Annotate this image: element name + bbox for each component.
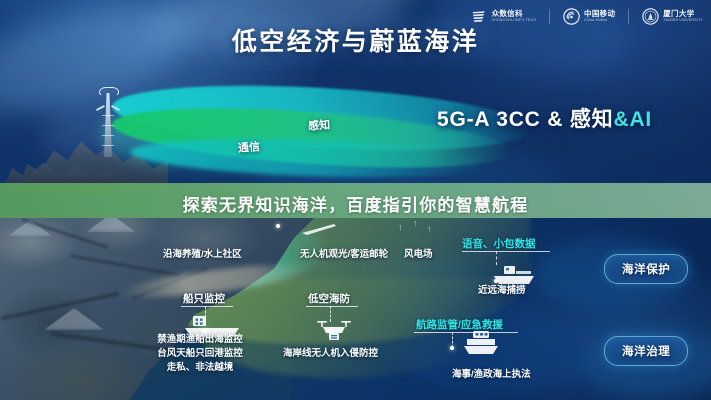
tech-tagline-accent: &AI <box>613 108 652 131</box>
zhongshu-mark-icon <box>471 9 488 25</box>
label-maritime-enforcement: 海事/渔政海上执法 <box>452 366 531 380</box>
wind-turbine-icon: ↑ <box>398 222 403 232</box>
leader-line <box>496 251 498 265</box>
label-coastline-uav-defense: 海岸线无人机入侵防控 <box>283 345 378 359</box>
logo-xiamen-university-en: XIAMEN UNIVERSITY <box>663 19 703 23</box>
tech-tagline: 5G-A 3CC & 感知&AI <box>437 103 652 133</box>
note-line-3: 走私、非法越境 <box>124 361 276 375</box>
label-drone-tour-cruise: 无人机观光/客运邮轮 <box>300 246 388 260</box>
aircraft-icon <box>300 222 340 236</box>
map-node-dot <box>328 329 332 333</box>
logo-china-mobile-zh: 中国移动 <box>584 10 615 18</box>
promo-banner: 探索无界知识海洋，百度指引你的智慧航程 <box>0 183 711 223</box>
logo-zhongshu-zh: 众数信科 <box>492 10 536 18</box>
label-offshore-fishing: 近远海捕捞 <box>478 282 526 296</box>
beam-label-sensing: 感知 <box>308 116 331 133</box>
label-low-altitude-defense: 低空海防 <box>308 291 350 306</box>
slide-canvas: 低空经济与蔚蓝海洋 5G-A 3CC & 感知&AI 通信 感知 众数信科 <box>0 0 711 400</box>
map-node-dot <box>450 346 454 350</box>
ship-monitoring-notes: 禁渔期渔船出海监控 台风天船只回港监控 走私、非法越境 <box>124 333 276 374</box>
logo-xiamen-university-zh: 厦门大学 <box>663 10 703 18</box>
label-underline <box>462 251 550 252</box>
logo-divider <box>628 9 629 24</box>
wind-turbine-icon: ↑ <box>427 224 432 234</box>
promo-banner-text: 探索无界知识海洋，百度指引你的智慧航程 <box>183 191 529 216</box>
label-wind-farm: 风电场 <box>404 246 433 260</box>
map-node-dot <box>276 224 280 228</box>
pill-ocean-protection[interactable]: 海洋保护 <box>604 254 688 284</box>
xiamen-university-seal-icon <box>642 8 659 25</box>
note-line-1: 禁渔期渔船出海监控 <box>124 333 276 347</box>
logo-divider <box>549 9 550 24</box>
logo-china-mobile-en: China Mobile <box>584 19 615 23</box>
logo-zhongshu: 众数信科 ZHONGSHU INFO TECH <box>471 9 536 25</box>
base-station-tower-icon <box>95 85 121 157</box>
partner-logo-strip: 众数信科 ZHONGSHU INFO TECH 中国移动 China Mobil… <box>471 8 703 25</box>
note-line-2: 台风天船只回港监控 <box>124 347 276 361</box>
logo-zhongshu-en: ZHONGSHU INFO TECH <box>492 19 536 23</box>
label-underline <box>181 306 233 307</box>
label-voice-small-packet: 语音、小包数据 <box>462 236 536 251</box>
label-coastal-aquaculture: 沿海养殖/水上社区 <box>163 246 242 260</box>
slide-title: 低空经济与蔚蓝海洋 <box>0 22 711 58</box>
wind-turbine-icon: ↑ <box>413 218 418 228</box>
logo-china-mobile: 中国移动 China Mobile <box>563 8 615 25</box>
map-panel: ↑ ↑ ↑ 沿海养殖/水上社区 无人机观光/客运邮轮 风电场 语音、小包数据 近… <box>0 218 711 400</box>
label-ship-monitoring: 船只监控 <box>183 291 225 306</box>
china-mobile-mark-icon <box>563 8 580 25</box>
label-underline <box>306 306 358 307</box>
beam-label-communication: 通信 <box>237 138 260 155</box>
drone-icon <box>314 318 354 344</box>
pill-ocean-governance[interactable]: 海洋治理 <box>604 336 688 366</box>
tech-tagline-prefix: 5G-A 3CC & 感知 <box>437 108 613 131</box>
logo-xiamen-university: 厦门大学 XIAMEN UNIVERSITY <box>642 8 703 25</box>
rescue-vessel-icon <box>462 330 500 356</box>
